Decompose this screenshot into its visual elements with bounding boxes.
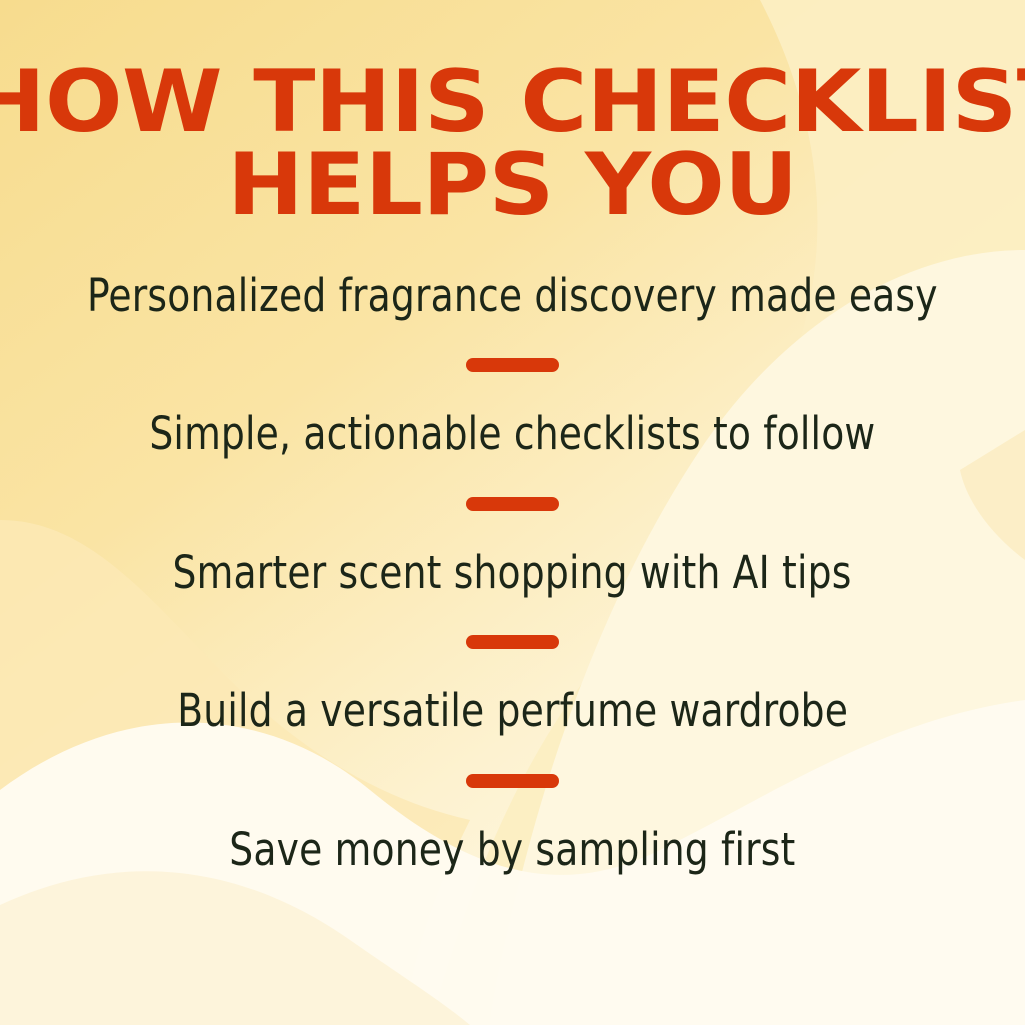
divider-dash-icon bbox=[466, 635, 559, 649]
divider-dash-icon bbox=[466, 774, 559, 788]
divider-dash-icon bbox=[466, 497, 559, 511]
page-title-line-1: HOW THIS CHECKLIST bbox=[0, 62, 1025, 143]
list-item: Save money by sampling first bbox=[0, 826, 1025, 875]
list-item: Smarter scent shopping with AI tips bbox=[0, 549, 1025, 598]
list-item: Personalized fragrance discovery made ea… bbox=[0, 272, 1025, 321]
benefit-text-2: Simple, actionable checklists to follow bbox=[149, 410, 875, 459]
divider-dash-icon bbox=[466, 358, 559, 372]
benefit-text-4: Build a versatile perfume wardrobe bbox=[177, 687, 848, 736]
benefit-text-5: Save money by sampling first bbox=[229, 826, 795, 875]
benefit-list: Personalized fragrance discovery made ea… bbox=[0, 272, 1025, 875]
list-divider bbox=[0, 597, 1025, 687]
list-item: Simple, actionable checklists to follow bbox=[0, 410, 1025, 459]
list-divider bbox=[0, 736, 1025, 826]
list-divider bbox=[0, 459, 1025, 549]
benefit-text-1: Personalized fragrance discovery made ea… bbox=[87, 272, 938, 321]
card-content: HOW THIS CHECKLIST HELPS YOU Personalize… bbox=[0, 0, 1025, 1025]
benefit-text-3: Smarter scent shopping with AI tips bbox=[173, 549, 852, 598]
page-title: HOW THIS CHECKLIST HELPS YOU bbox=[0, 0, 1025, 226]
list-divider bbox=[0, 320, 1025, 410]
graphic-canvas: HOW THIS CHECKLIST HELPS YOU Personalize… bbox=[0, 0, 1025, 1025]
page-title-line-2: HELPS YOU bbox=[0, 145, 1025, 226]
list-item: Build a versatile perfume wardrobe bbox=[0, 687, 1025, 736]
